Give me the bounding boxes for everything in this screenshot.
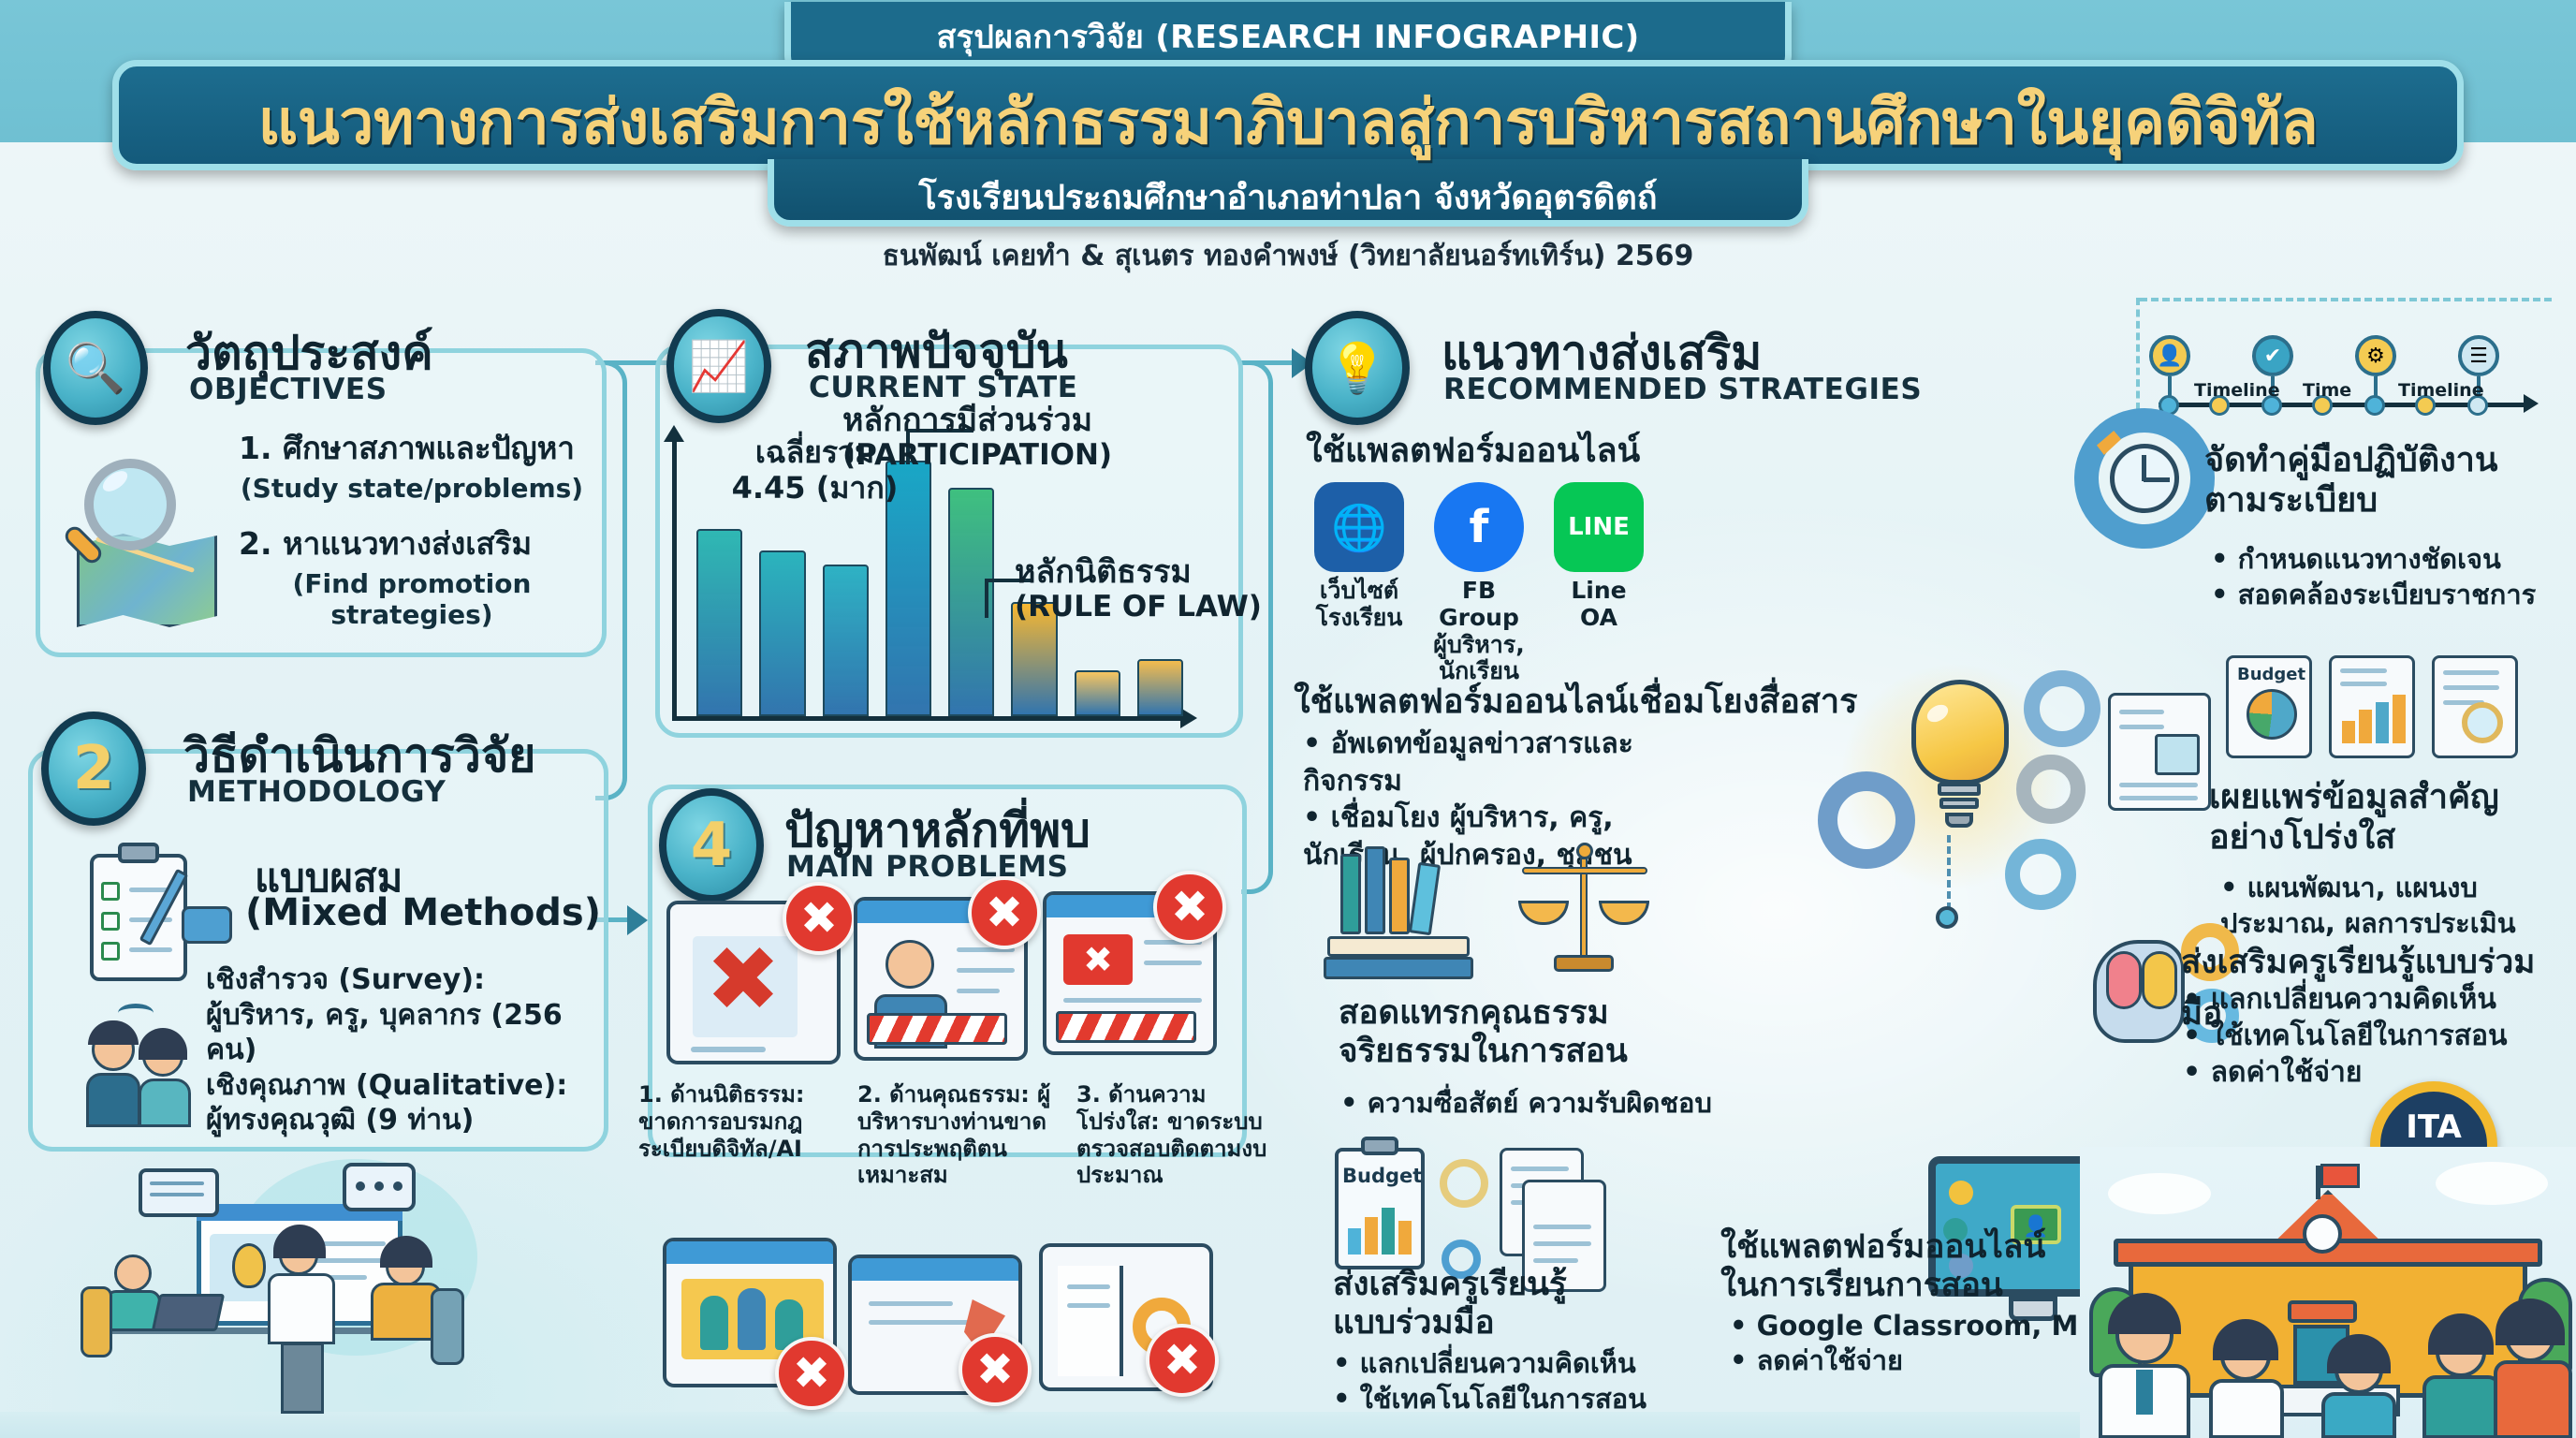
budget-doc-label: Budget (2237, 665, 2303, 684)
person-pin-icon[interactable]: 👤 (2149, 335, 2190, 376)
browser-bar (666, 1241, 833, 1264)
arrow-head-3 (627, 905, 648, 935)
lightbulb-gears-illustration (1807, 655, 2144, 955)
bullet-text: สอดคล้องระเบียบราชการ (2238, 579, 2537, 610)
objectives-list: 1. ศึกษาสภาพและปัญหา (Study state/proble… (239, 423, 585, 645)
problem-item: 2. ด้านคุณธรรม: ผู้บริหารบางท่านขาดการปร… (857, 1081, 1065, 1189)
annotation-en: (RULE OF LAW) (1015, 591, 1262, 624)
objective-text-th: 2. หาแนวทางส่งเสริม (239, 519, 585, 568)
bullet-item: • กำหนดแนวทางชัดเจน (2211, 541, 2536, 577)
ethics-bullets: • ความซื่อสัตย์ ความรับผิดชอบ (1340, 1081, 1712, 1124)
chart-bar (823, 565, 869, 716)
transparency-bullets: • แผนพัฒนา, แผนงบประมาณ, ผลการประเมิน (2220, 871, 2576, 941)
methodology-line: ผู้ทรงคุณวุฒิ (9 ท่าน) (206, 1103, 599, 1138)
objective-text-en: (Find promotion strategies) (239, 568, 585, 630)
problems-title-en: MAIN PROBLEMS (786, 850, 1069, 884)
connector-dashed-top-right (2140, 298, 2552, 301)
objective-item: 1. ศึกษาสภาพและปัญหา (Study state/proble… (239, 423, 585, 504)
manual-section-title: จัดทำคู่มือปฏิบัติงานตามระเบียบ (2204, 440, 2498, 521)
bullet-text: ลดค่าใช้จ่าย (1757, 1344, 1903, 1376)
chart-bar (696, 529, 742, 716)
chart-y-axis (672, 440, 677, 721)
bullet-text: ลดค่าใช้จ่าย (2211, 1056, 2363, 1089)
globe-cursor-icon: 🌐 (1314, 482, 1404, 572)
lms-section-title: ใช้แพลตฟอร์มออนไลน์ในการเรียนการสอน (1720, 1228, 2045, 1306)
platform-caption: เว็บไซต์โรงเรียน (1310, 578, 1408, 632)
platform-caption: Line OA (1550, 578, 1647, 632)
budget-label: Budget (1342, 1165, 1417, 1187)
methodology-line: ผู้บริหาร, ครู, บุคลากร (256 คน) (206, 998, 599, 1068)
bullet-text: ใช้เทคโนโลยีในการสอน (1360, 1383, 1647, 1415)
methodology-mixed-en: (Mixed Methods) (245, 891, 601, 934)
problems-badge: 4 (659, 788, 764, 902)
current-state-badge: 📈 (666, 309, 771, 423)
list-pin-icon[interactable]: ☰ (2458, 335, 2499, 376)
strategies-badge: 💡 (1305, 311, 1410, 425)
problem-x-icon-3: ✖ (1153, 871, 1226, 944)
bullet-text: ใช้เทคโนโลยีในการสอน (2211, 1020, 2508, 1052)
methodology-step-number: 2 (73, 734, 115, 803)
report-chart-doc-illustration (2108, 693, 2218, 814)
annotation-th: หลักนิติธรรม (1015, 554, 1262, 591)
lightbulb-icon: 💡 (1327, 340, 1388, 397)
platform-section-title: ใช้แพลตฟอร์มออนไลน์ (1306, 423, 1640, 477)
platform-line[interactable]: LINE Line OA (1550, 482, 1647, 685)
bullet-item: • สอดคล้องระเบียบราชการ (2211, 577, 2536, 612)
platform-facebook[interactable]: f FB Groupผู้บริหาร,นักเรียน (1430, 482, 1528, 685)
bullet-item: • แลกเปลี่ยนความคิดเห็น (2183, 981, 2508, 1018)
methodology-badge: 2 (41, 712, 146, 826)
transparency-section-title: เผยแพร่ข้อมูลสำคัญอย่างโปร่งใส (2209, 777, 2499, 858)
communication-section-title: ใช้แพลตฟอร์มออนไลน์เชื่อมโยงสื่อสาร (1294, 674, 1857, 727)
platform-website[interactable]: 🌐 เว็บไซต์โรงเรียน (1310, 482, 1408, 685)
problem-item: 1. ด้านนิติธรรม: ขาดการอบรมกฎระเบียบดิจิ… (638, 1081, 846, 1189)
bullet-text: กำหนดแนวทางชัดเจน (2238, 543, 2501, 575)
manual-bullets: • กำหนดแนวทางชัดเจน • สอดคล้องระเบียบราช… (2211, 541, 2536, 613)
team-meeting-illustration (56, 1150, 580, 1431)
problems-step-number: 4 (691, 811, 733, 880)
collaboration-bullets: • แลกเปลี่ยนความคิดเห็น • ใช้เทคโนโลยีใน… (1333, 1346, 1647, 1416)
page-title: แนวทางการส่งเสริมการใช้หลักธรรมาภิบาลสู่… (122, 73, 2454, 171)
strategies-title-en: RECOMMENDED STRATEGIES (1443, 373, 1922, 406)
objective-item: 2. หาแนวทางส่งเสริม (Find promotion stra… (239, 519, 585, 630)
platform-icon-row: 🌐 เว็บไซต์โรงเรียน f FB Groupผู้บริหาร,น… (1310, 482, 1647, 685)
timeline-dot (2364, 395, 2385, 416)
bullet-item: • ใช้เทคโนโลยีในการสอน (2183, 1018, 2508, 1054)
collaboration-section-title: ส่งเสริมครูเรียนรู้แบบร่วมมือ (1333, 1266, 1567, 1343)
school-students-illustration (2080, 1147, 2576, 1438)
ita-line1: ITA (2406, 1111, 2462, 1145)
methodology-line: เชิงสำรวจ (Survey): (206, 962, 599, 998)
bullet-item: • อัพเดทข้อมูลข่าวสารและกิจกรรม (1303, 726, 1677, 800)
chart-bar (1137, 659, 1183, 716)
timeline-label: Timeline (2398, 380, 2484, 401)
timeline-label: Timeline (2194, 380, 2280, 401)
header-subtitle: โรงเรียนประถมศึกษาอำเภอท่าปลา จังหวัดอุต… (768, 170, 1808, 224)
connector-dashed-drop (2136, 298, 2140, 410)
chart-bar (759, 550, 805, 716)
right-collaboration-bullets: • แลกเปลี่ยนความคิดเห็น • ใช้เทคโนโลยีใน… (2183, 981, 2508, 1091)
current-state-title-en: CURRENT STATE (809, 371, 1078, 404)
objectives-title-en: OBJECTIVES (189, 373, 388, 406)
browser-bar (852, 1258, 1018, 1281)
infographic-header: สรุปผลการวิจัย (RESEARCH INFOGRAPHIC) แน… (0, 0, 2576, 281)
header-kicker: สรุปผลการวิจัย (RESEARCH INFOGRAPHIC) (784, 11, 1792, 62)
justice-scales-illustration (1507, 833, 1657, 992)
magnifier-map-illustration (56, 449, 220, 637)
bullet-text: อัพเดทข้อมูลข่าวสารและกิจกรรม (1303, 727, 1633, 798)
problem-x-icon-4: ✖ (775, 1337, 848, 1410)
line-icon: LINE (1554, 482, 1644, 572)
methodology-line: เชิงคุณภาพ (Qualitative): (206, 1068, 599, 1104)
chart-bar (1075, 670, 1120, 716)
timeline-label: Time (2303, 380, 2351, 401)
ethics-section-title: สอดแทรกคุณธรรมจริยธรรมในการสอน (1339, 994, 1628, 1072)
objectives-badge: 🔍 (43, 311, 148, 425)
methodology-detail-lines: เชิงสำรวจ (Survey): ผู้บริหาร, ครู, บุคล… (206, 962, 599, 1138)
annotation-en: (PARTICIPATION) (842, 439, 1112, 473)
check-pin-icon[interactable]: ✔ (2252, 335, 2293, 376)
problem-x-icon-1: ✖ (783, 882, 856, 955)
chart-annotation-participation: หลักการมีส่วนร่วม (PARTICIPATION) (842, 403, 1112, 473)
chart-annotation-rule-of-law: หลักนิติธรรม (RULE OF LAW) (1015, 554, 1262, 624)
chart-average-value: 4.45 (มาก) (732, 470, 899, 506)
bar-chart-growth-icon: 📈 (689, 338, 750, 395)
barricade-icon-3 (1056, 1011, 1196, 1043)
bullet-text: ความซื่อสัตย์ ความรับผิดชอบ (1368, 1087, 1712, 1119)
objective-text-th: 1. ศึกษาสภาพและปัญหา (239, 423, 585, 473)
problem-x-icon-6: ✖ (1146, 1324, 1219, 1397)
problem-item: 3. ด้านความโปร่งใส: ขาดระบบตรวจสอบติดตาม… (1076, 1081, 1284, 1189)
bullet-item: • ลดค่าใช้จ่าย (2183, 1054, 2508, 1091)
problem-x-icon-5: ✖ (959, 1333, 1032, 1406)
annotation-th: หลักการมีส่วนร่วม (842, 403, 1112, 439)
transparency-docs-illustration: Budget (2226, 655, 2539, 766)
bullet-text: แลกเปลี่ยนความคิดเห็น (2211, 983, 2496, 1016)
bullet-text: แผนพัฒนา, แผนงบประมาณ, ผลการประเมิน (2220, 872, 2516, 939)
gear-pin-icon[interactable]: ⚙ (2355, 335, 2396, 376)
bullet-item: • แลกเปลี่ยนความคิดเห็น (1333, 1346, 1647, 1382)
search-chart-icon: 🔍 (66, 340, 126, 397)
bullet-item: • ใช้เทคโนโลยีในการสอน (1333, 1382, 1647, 1417)
barricade-icon-2 (867, 1013, 1007, 1045)
header-authors: ธนพัฒน์ เคยทำ & สุเนตร ทองคำพงษ์ (วิทยาล… (655, 234, 1921, 278)
objective-text-en: (Study state/problems) (239, 473, 585, 504)
methodology-title-en: METHODOLOGY (187, 775, 446, 809)
platform-caption: FB Groupผู้บริหาร,นักเรียน (1430, 578, 1528, 685)
chart-x-axis (672, 716, 1182, 721)
books-stack-illustration (1320, 843, 1488, 992)
bullet-text: แลกเปลี่ยนความคิดเห็น (1360, 1347, 1636, 1379)
problems-columns: 1. ด้านนิติธรรม: ขาดการอบรมกฎระเบียบดิจิ… (638, 1081, 1284, 1189)
problem-x-icon-2: ✖ (968, 876, 1041, 949)
facebook-icon: f (1434, 482, 1524, 572)
